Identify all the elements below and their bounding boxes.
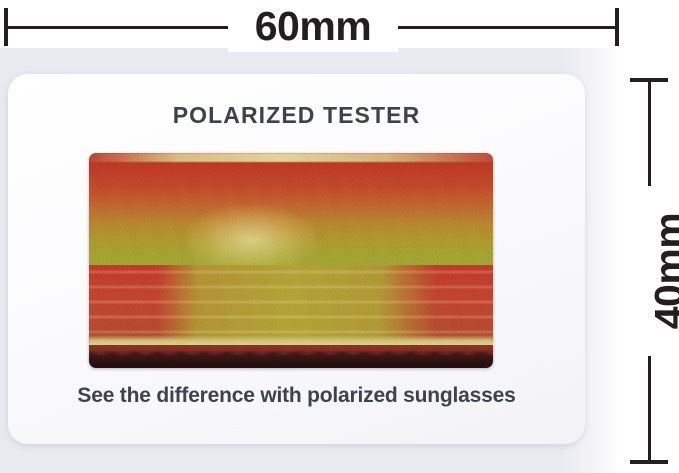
polarized-tester-card: POLARIZED TESTER See the difference with… [8, 74, 585, 444]
card-title: POLARIZED TESTER [8, 102, 585, 129]
card-caption: See the difference with polarized sungla… [8, 384, 585, 408]
width-dimension-tick-left [4, 8, 8, 46]
photo-water-streaks [89, 265, 493, 343]
product-dimension-diagram: 60mm 40mm POLARIZED TESTER See the diffe… [0, 0, 679, 473]
photo-foam-line [89, 153, 493, 162]
height-dimension-tick-top [630, 78, 668, 82]
width-dimension-tick-right [615, 8, 619, 46]
photo-beach-layer [89, 355, 493, 368]
width-dimension-label: 60mm [228, 0, 398, 52]
height-dimension-label: 40mm [643, 186, 679, 356]
sunset-photo [89, 153, 493, 368]
height-dimension-tick-bottom [630, 460, 668, 464]
